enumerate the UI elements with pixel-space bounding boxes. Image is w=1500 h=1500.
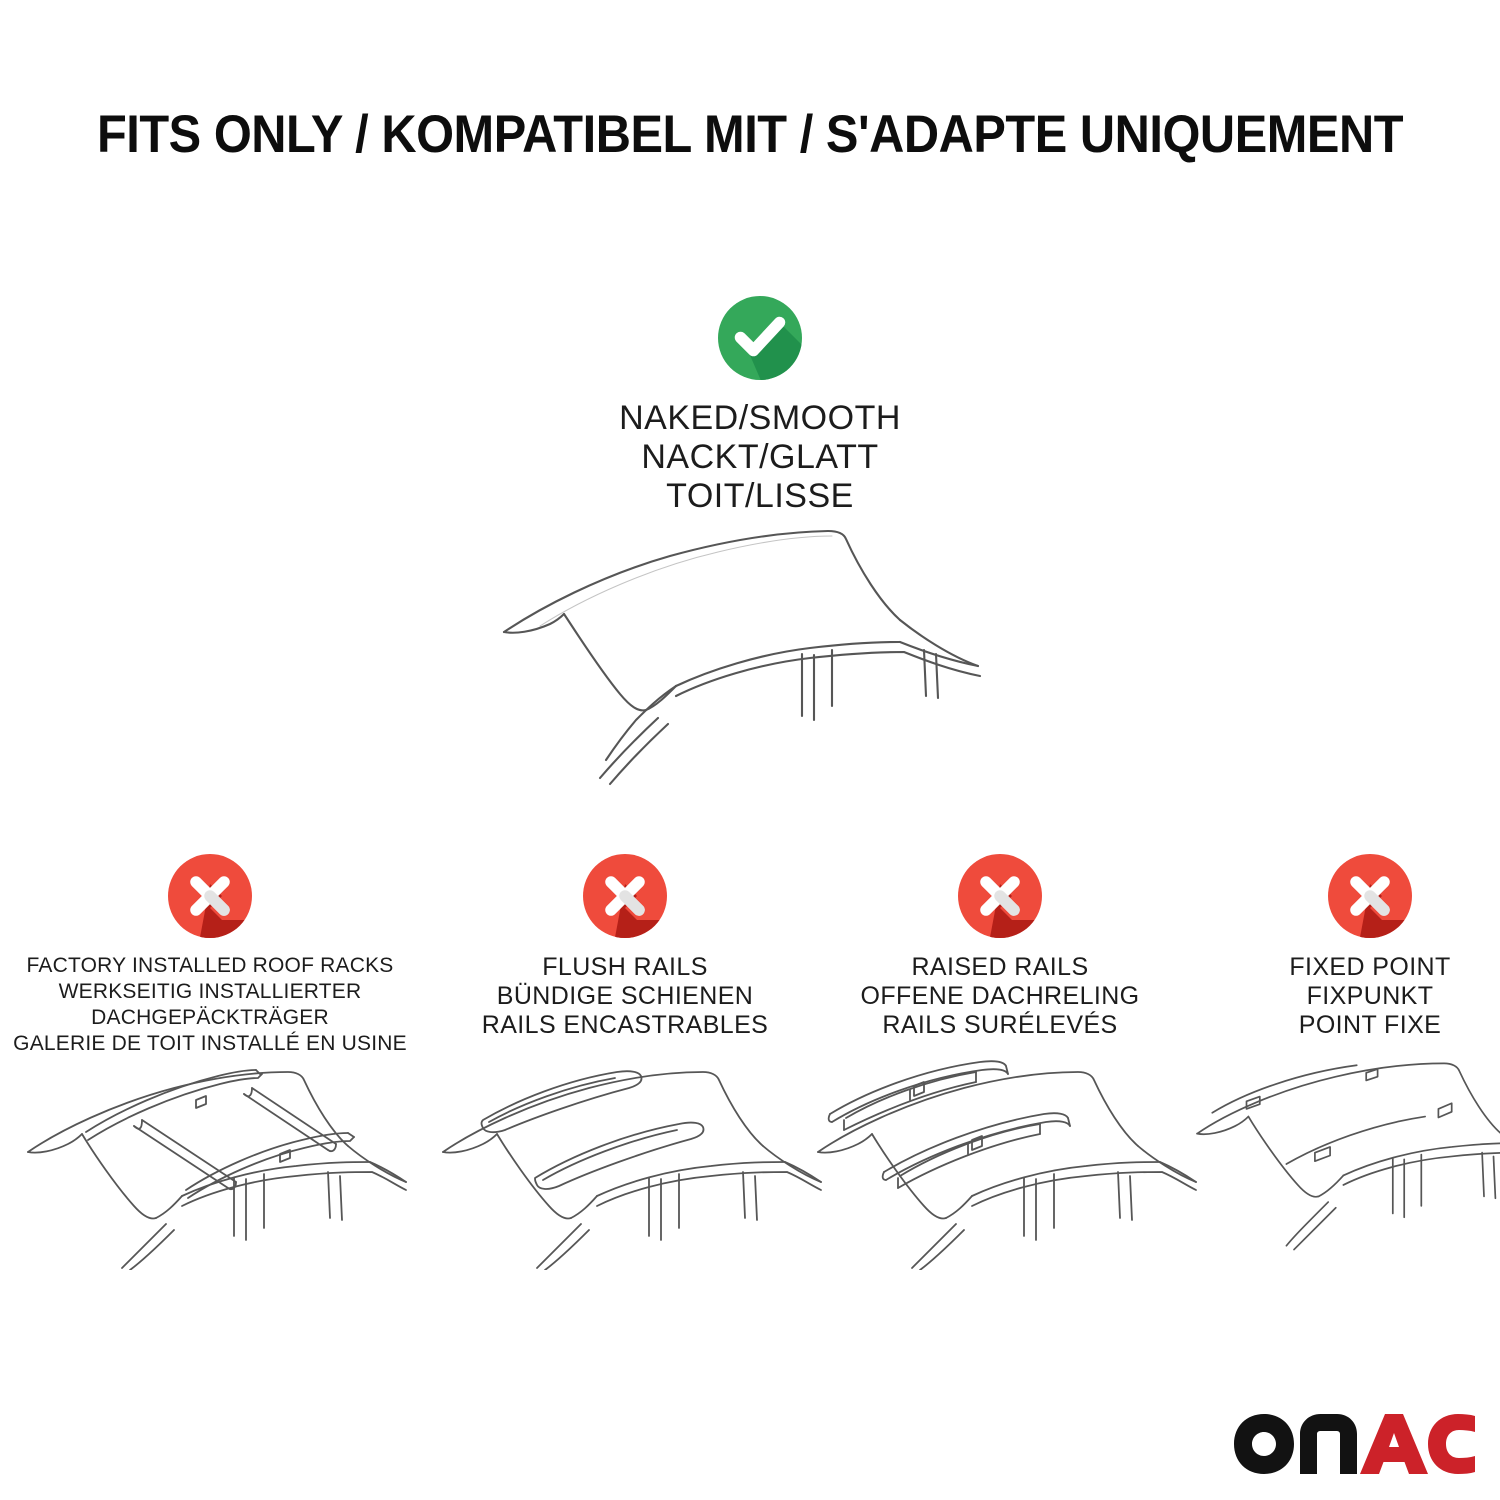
label-de-1: WERKSEITIG INSTALLIERTER — [10, 979, 410, 1005]
omac-logo — [1232, 1408, 1477, 1478]
label-fr: POINT FIXE — [1180, 1011, 1500, 1040]
car-roof-naked-smooth-illustration — [480, 520, 1040, 810]
car-roof-fixed-point-illustration — [1180, 1060, 1500, 1270]
incompatible-label-fixed-point: FIXED POINT FIXPUNKT POINT FIXE — [1180, 953, 1500, 1040]
car-roof-flush-rails-illustration — [425, 1060, 825, 1270]
label-en: FIXED POINT — [1180, 953, 1500, 982]
incompatible-item-fixed-point: FIXED POINT FIXPUNKT POINT FIXE — [1180, 845, 1500, 1040]
car-roof-factory-rack-illustration — [10, 1060, 410, 1270]
car-roof-raised-rails-illustration — [800, 1060, 1200, 1270]
x-circle-icon — [167, 853, 253, 939]
incompatible-item-raised-rails: RAISED RAILS OFFENE DACHRELING RAILS SUR… — [800, 845, 1200, 1040]
label-de-1: FIXPUNKT — [1180, 982, 1500, 1011]
label-de-1: BÜNDIGE SCHIENEN — [425, 982, 825, 1011]
label-fr: RAILS SURÉLEVÉS — [800, 1011, 1200, 1040]
label-fr: RAILS ENCASTRABLES — [425, 1011, 825, 1040]
compatible-label: NAKED/SMOOTH NACKT/GLATT TOIT/LISSE — [450, 399, 1070, 516]
incompatible-item-flush-rails: FLUSH RAILS BÜNDIGE SCHIENEN RAILS ENCAS… — [425, 845, 825, 1040]
compatible-label-de: NACKT/GLATT — [450, 438, 1070, 477]
compatible-label-fr: TOIT/LISSE — [450, 477, 1070, 516]
label-de-1: OFFENE DACHRELING — [800, 982, 1200, 1011]
incompatible-roof-types-row: FACTORY INSTALLED ROOF RACKS WERKSEITIG … — [0, 845, 1500, 1465]
label-en: FLUSH RAILS — [425, 953, 825, 982]
incompatible-item-factory-rack: FACTORY INSTALLED ROOF RACKS WERKSEITIG … — [10, 845, 410, 1057]
compatible-roof-type: NAKED/SMOOTH NACKT/GLATT TOIT/LISSE — [450, 295, 1070, 516]
x-circle-icon — [957, 853, 1043, 939]
incompatible-label-raised-rails: RAISED RAILS OFFENE DACHRELING RAILS SUR… — [800, 953, 1200, 1040]
incompatible-label-factory-rack: FACTORY INSTALLED ROOF RACKS WERKSEITIG … — [10, 953, 410, 1057]
label-fr: GALERIE DE TOIT INSTALLÉ EN USINE — [10, 1031, 410, 1057]
x-circle-icon — [1327, 853, 1413, 939]
x-circle-icon — [582, 853, 668, 939]
label-en: FACTORY INSTALLED ROOF RACKS — [10, 953, 410, 979]
incompatible-label-flush-rails: FLUSH RAILS BÜNDIGE SCHIENEN RAILS ENCAS… — [425, 953, 825, 1040]
check-circle-icon — [717, 295, 803, 381]
compatible-label-en: NAKED/SMOOTH — [450, 399, 1070, 438]
label-de-2: DACHGEPÄCKTRÄGER — [10, 1005, 410, 1031]
page-title: FITS ONLY / KOMPATIBEL MIT / S'ADAPTE UN… — [60, 104, 1440, 165]
label-en: RAISED RAILS — [800, 953, 1200, 982]
